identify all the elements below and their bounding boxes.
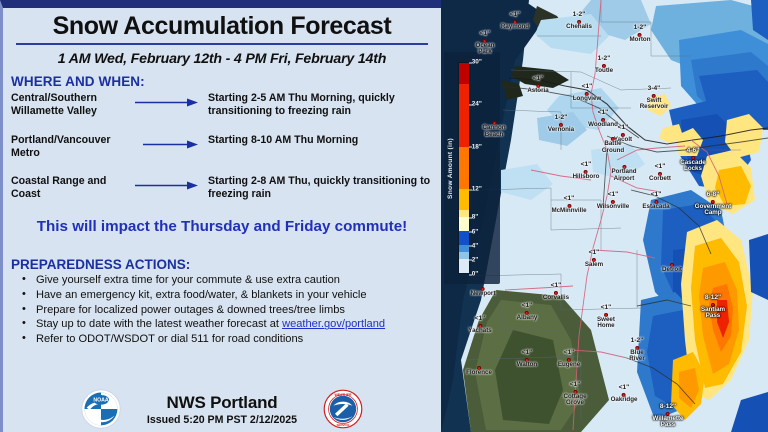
footer: NOAA NWS Portland Issued 5:20 PM PST 2/1… [3,389,441,429]
weather-gov-link[interactable]: weather.gov/portland [282,318,385,330]
region-label: Coastal Range and Coast [11,173,135,201]
prep-text: Give yourself extra time for your commut… [36,274,340,286]
colorbar-tick-label: 24" [472,101,482,108]
office-name: NWS Portland [147,393,297,413]
colorbar-tick-label: 12" [472,186,482,193]
where-and-when-table: Central/Southern Willamette Valley Start… [11,90,433,201]
snow-accumulation-map[interactable]: Snow Amount (in) 30"24"18"12"8"6"4"2"0" … [441,0,768,432]
valid-period: 1 AM Wed, February 12th - 4 PM Fri, Febr… [11,51,433,67]
svg-text:NOAA: NOAA [93,397,109,403]
colorbar-segment [459,189,469,210]
where-and-when-heading: WHERE AND WHEN: [11,74,433,89]
colorbar-segment [459,84,469,147]
list-item: Have an emergency kit, extra food/water,… [11,288,433,303]
page-title: Snow Accumulation Forecast [11,13,433,39]
colorbar-segment [459,252,469,259]
list-item: Prepare for localized power outages & do… [11,303,433,318]
prep-text: Have an emergency kit, extra food/water,… [36,289,367,301]
colorbar-ticks: 30"24"18"12"8"6"4"2"0" [472,62,500,274]
prep-text: Refer to ODOT/WSDOT or dial 511 for road… [36,333,303,345]
arrow-right-icon [135,173,205,201]
colorbar-axis-label: Snow Amount (in) [447,138,454,199]
noaa-logo: NOAA [81,389,121,429]
title-divider [16,43,428,45]
list-item: Refer to ODOT/WSDOT or dial 511 for road… [11,332,433,347]
colorbar-tick-label: 18" [472,143,482,150]
timing-label: Starting 2-5 AM Thu Morning, quickly tra… [205,90,433,118]
colorbar-tick-label: 4" [472,242,479,249]
prep-text: Prepare for localized power outages & do… [36,304,345,316]
issued-timestamp: Issued 5:20 PM PST 2/12/2025 [147,414,297,426]
colorbar-segment [459,147,469,189]
colorbar-tick-label: 2" [472,256,479,263]
info-panel: Snow Accumulation Forecast 1 AM Wed, Feb… [0,0,441,432]
colorbar-segment [459,245,469,252]
impact-statement: This will impact the Thursday and Friday… [11,218,433,237]
row-spacer [11,160,433,173]
timing-label: Starting 2-8 AM Thu, quickly transitioni… [205,173,433,201]
svg-text:SERVICE: SERVICE [337,423,350,427]
arrow-right-icon [135,132,205,160]
colorbar-gradient [458,62,470,274]
row-spacer [11,119,433,132]
colorbar-tick-label: 30" [472,59,482,66]
nws-seal-logo: WEATHER SERVICE [323,389,363,429]
list-item: Stay up to date with the latest weather … [11,317,433,332]
table-row: Coastal Range and Coast Starting 2-8 AM … [11,173,433,201]
region-label: Central/Southern Willamette Valley [11,90,135,118]
colorbar-legend: Snow Amount (in) 30"24"18"12"8"6"4"2"0" [444,52,500,284]
prep-text: Stay up to date with the latest weather … [36,318,282,330]
colorbar-tick-label: 0" [472,271,479,278]
colorbar-segment [459,63,469,84]
svg-text:WEATHER: WEATHER [335,393,352,397]
colorbar-segment [459,259,469,273]
colorbar-segment [459,210,469,217]
colorbar-segment [459,231,469,245]
list-item: Give yourself extra time for your commut… [11,273,433,288]
preparedness-list: Give yourself extra time for your commut… [11,273,433,347]
colorbar-tick-label: 6" [472,228,479,235]
footer-text: NWS Portland Issued 5:20 PM PST 2/12/202… [147,393,297,426]
region-label: Portland/Vancouver Metro [11,132,135,160]
timing-label: Starting 8-10 AM Thu Morning [205,132,433,160]
preparedness-heading: PREPAREDNESS ACTIONS: [11,257,433,272]
colorbar-segment [459,217,469,231]
arrow-right-icon [135,90,205,118]
table-row: Portland/Vancouver Metro Starting 8-10 A… [11,132,433,160]
colorbar-tick-label: 8" [472,214,479,221]
table-row: Central/Southern Willamette Valley Start… [11,90,433,118]
